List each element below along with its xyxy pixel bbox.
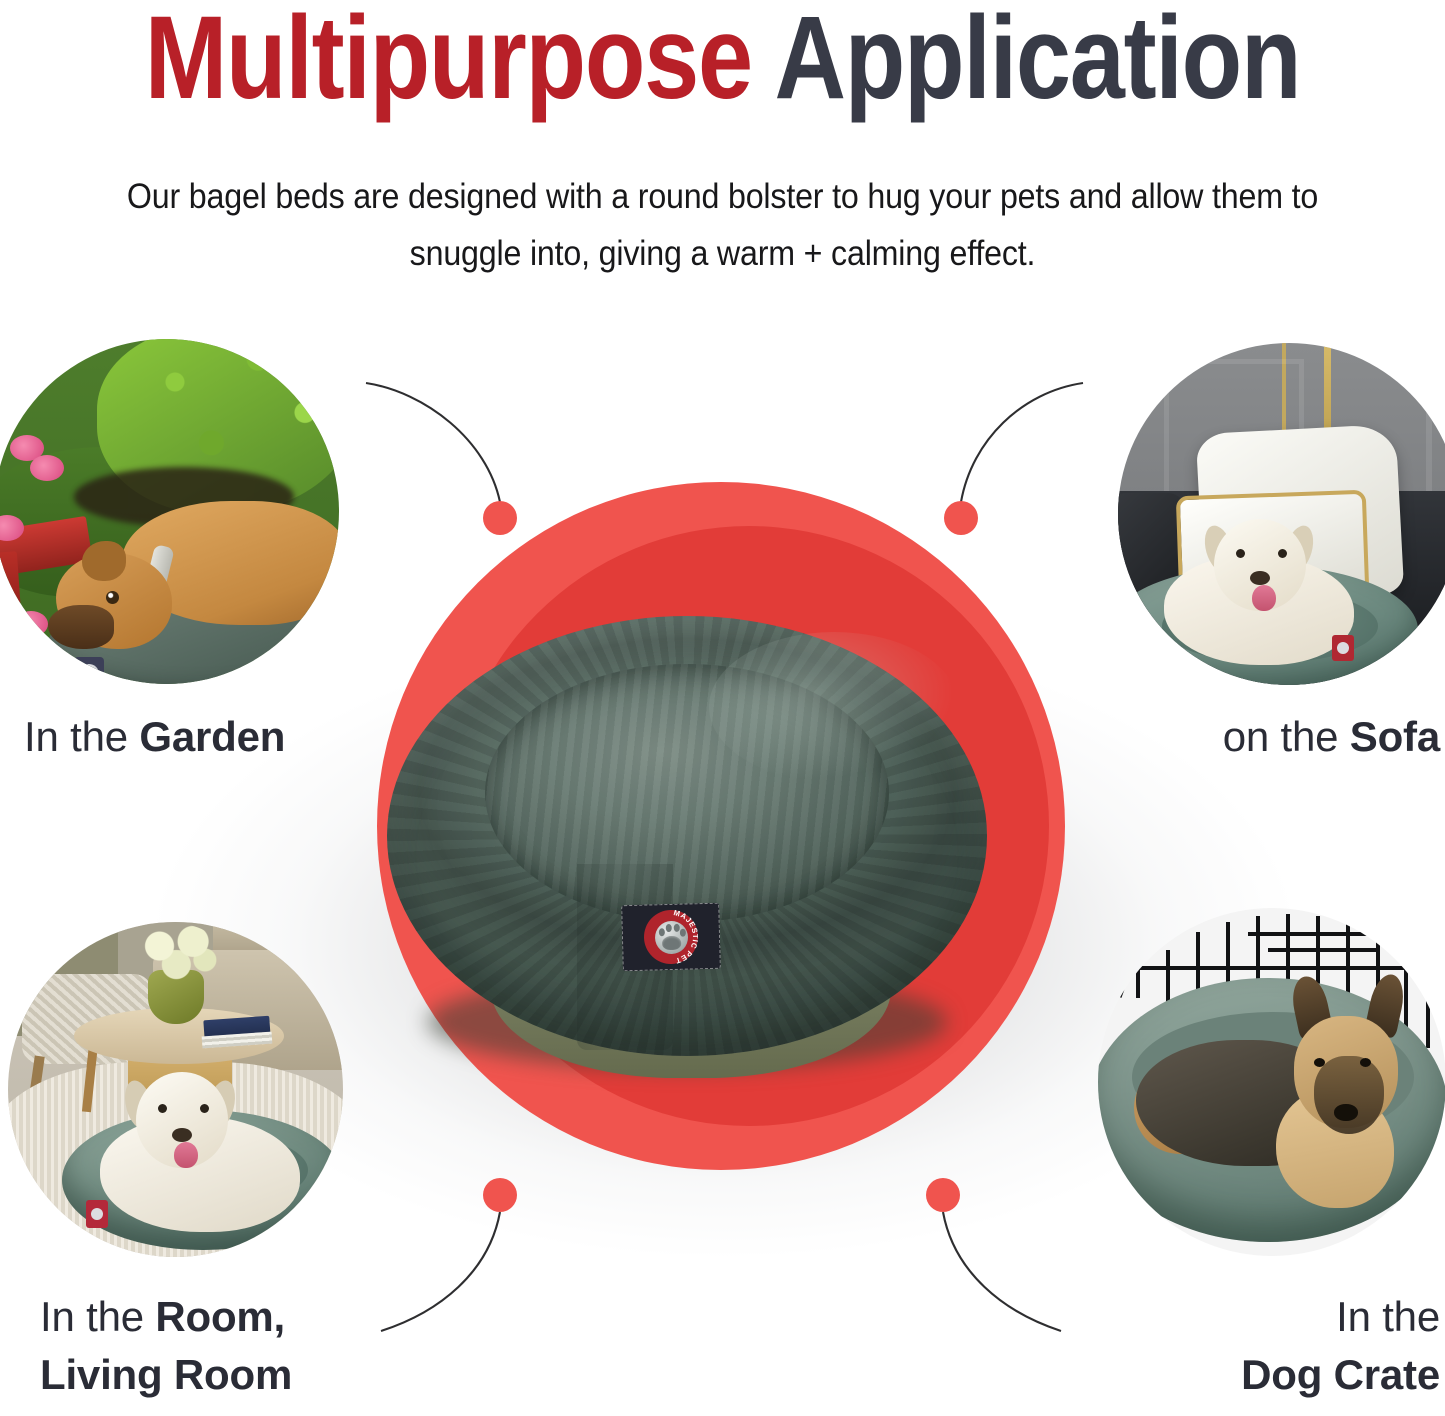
paw-print-icon [654,920,688,954]
brand-label-patch: MAJESTIC PET [621,903,721,972]
paw-toe [673,923,679,931]
crate-latch-icon [1118,972,1131,998]
connector-dot-crate [926,1178,960,1212]
title-dark-word: Application [774,0,1300,124]
connector-line-crate [943,1212,1061,1331]
garden-flower [30,455,64,481]
label-prefix: In the [40,1293,155,1340]
garden-flower [14,611,48,637]
paw-toe [665,923,671,931]
sofa-dog-tongue [1252,585,1276,611]
paw-print-icon [1337,642,1349,654]
paw-pad [661,935,680,949]
hero-dog-bed: MAJESTIC PET [379,598,995,1098]
sofa-dog-nose [1250,571,1270,585]
connector-line-sofa [961,383,1083,502]
label-emphasis: Garden [139,713,285,760]
crate-bar-vertical [1166,950,1170,1002]
paw-print-icon [79,664,99,684]
connector-dot-garden [483,501,517,535]
connector-dot-living [483,1178,517,1212]
garden-dog-eye [106,591,119,604]
scene-label-garden: In the Garden [24,708,384,766]
crate-bar-horizontal [1268,948,1378,952]
page-title: Multipurpose Application [116,0,1330,120]
scene-photo-garden [0,339,339,684]
hydrangea-flowers [136,924,220,982]
label-prefix: on the [1223,713,1350,760]
garden-bed-brand-tag [74,657,104,684]
scene-photo-living-room [8,922,343,1257]
scene-label-living-room: In the Room,Living Room [40,1288,400,1404]
label-emphasis-line2: Living Room [40,1351,292,1398]
shepherd-eye-right [1360,1058,1371,1067]
infographic-canvas: Multipurpose Application Our bagel beds … [0,0,1445,1416]
label-emphasis-line2: Dog Crate [1241,1351,1440,1398]
sofa-bed-brand-tag [1332,635,1354,661]
sofa-dog-eye-left [1236,549,1245,558]
brand-ring: MAJESTIC PET [643,909,698,964]
label-emphasis: Sofa [1350,713,1440,760]
paw-toe [658,928,664,936]
connector-dot-sofa [944,501,978,535]
living-dog-eye-right [200,1104,209,1113]
shepherd-face-mask [1314,1056,1384,1134]
scene-photo-sofa [1118,343,1445,685]
crate-bar-horizontal [1108,966,1438,970]
sofa-dog-eye-right [1278,549,1287,558]
crate-bar-horizontal [1248,932,1378,936]
page-subtitle: Our bagel beds are designed with a round… [104,168,1341,282]
shepherd-eye-left [1314,1058,1325,1067]
paw-toe [679,928,685,936]
garden-dog-muzzle [48,605,114,649]
connector-line-garden [366,383,500,502]
label-prefix: In the [1336,1293,1440,1340]
crate-bar-vertical [1426,982,1430,1048]
scene-photo-dog-crate [1098,908,1445,1256]
living-dog-eye-left [158,1104,167,1113]
label-emphasis: Room, [155,1293,285,1340]
scene-label-dog-crate: In theDog Crate [1080,1288,1440,1404]
garden-dog-ear [82,541,126,581]
scene-label-sofa: on the Sofa [1090,708,1440,766]
shepherd-nose [1334,1104,1358,1121]
title-red-word: Multipurpose [145,0,752,124]
paw-print-icon [91,1208,103,1220]
bolster-highlight [709,632,959,782]
living-bed-brand-tag [86,1200,108,1228]
living-dog-nose [172,1128,192,1142]
crate-bar-vertical [1136,964,1140,998]
living-dog-tongue [174,1142,198,1168]
label-prefix: In the [24,713,139,760]
